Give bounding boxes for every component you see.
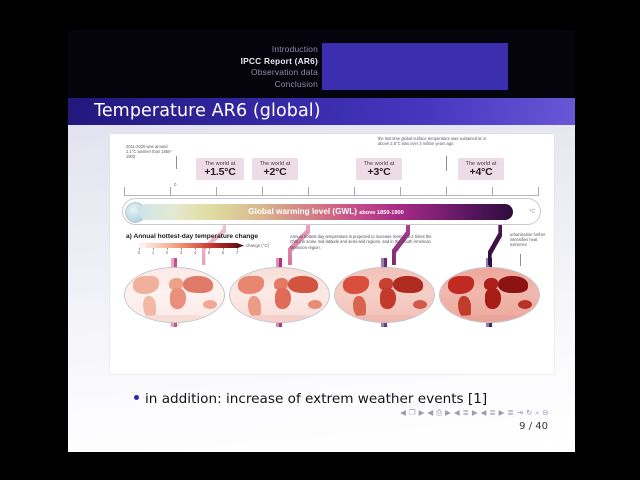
land-africa <box>275 288 291 309</box>
land-antarctica <box>242 315 320 322</box>
land-africa <box>380 288 396 309</box>
colorbar-tick-label: 3 <box>180 250 182 255</box>
gwl-axis <box>124 187 539 196</box>
panel-a-description: Annual hottest day temperature is projec… <box>290 234 440 250</box>
world-map-2c: +2°C <box>229 267 330 327</box>
colorbar-low-cap <box>139 243 146 248</box>
global-warming-level-bar: Global warming level (GWL) above 1850-19… <box>122 198 541 225</box>
gwl-axis-tick <box>538 187 539 196</box>
nav-item-observation-data[interactable]: Observation data <box>241 67 318 79</box>
land-antarctica <box>452 315 530 322</box>
letterbox-right <box>575 0 640 480</box>
colorbar-tick-label: 2 <box>166 250 168 255</box>
colorbar-tick-label: 6 <box>222 250 224 255</box>
colorbar-tick-label: 5 <box>208 250 210 255</box>
land-antarctica <box>347 315 425 322</box>
land-asia <box>288 276 318 293</box>
land-asia <box>393 276 423 293</box>
gwl-axis-tick <box>492 187 493 196</box>
slide-title-bar: Temperature AR6 (global) <box>68 98 575 125</box>
map-caption: +4°C <box>439 323 540 327</box>
globe-outline <box>124 267 225 323</box>
nav-symbols-glyphs[interactable]: ◀ ❐ ▶ ◀ ⎙ ▶ ◀ ≣ ▶ ◀ ≣ ▶ ≣ ⇥ ↻ ⌕ ⊖ <box>400 408 549 418</box>
gwl-axis-tick <box>354 187 355 196</box>
annotation-3-million-years: the last time global surface temperature… <box>378 136 498 146</box>
gwl-gradient-bar: Global warming level (GWL) above 1850-19… <box>139 204 513 220</box>
gwl-axis-tick <box>446 187 447 196</box>
beamer-section-header: Introduction IPCC Report (AR6) Observati… <box>68 30 575 98</box>
gwl-axis-line <box>124 195 539 196</box>
world-at-label-3: The world at +3°C <box>356 158 402 180</box>
land-antarctica <box>137 315 215 322</box>
colorbar-axis-label: change (°C) <box>246 243 269 248</box>
bullet-text: in addition: increase of extrem weather … <box>145 391 487 407</box>
land-australia <box>203 300 217 309</box>
annotation-2011-2020-warming: 2011-2020 was around 1.1°C warmer than 1… <box>126 144 176 159</box>
letterbox-top <box>0 0 640 30</box>
annotation-urbanisation: urbanisation further intensifies heat ex… <box>510 232 550 247</box>
land-asia <box>183 276 213 293</box>
nav-section-list[interactable]: Introduction IPCC Report (AR6) Observati… <box>241 44 318 90</box>
nav-progress-block <box>322 43 508 90</box>
map-caption: +1.5°C <box>124 323 225 327</box>
page-number: 9 / 40 <box>519 421 548 432</box>
beamer-navigation-symbols[interactable]: ◀ ❐ ▶ ◀ ⎙ ▶ ◀ ≣ ▶ ◀ ≣ ▶ ≣ ⇥ ↻ ⌕ ⊖ <box>400 408 549 418</box>
gwl-bar-label: Global warming level (GWL) above 1850-19… <box>139 207 513 216</box>
gwl-axis-tick <box>400 187 401 196</box>
world-at-label-2: The world at +2°C <box>252 158 298 180</box>
leader-line-left <box>176 156 177 169</box>
globe-outline <box>229 267 330 323</box>
leader-line-urbanisation <box>520 254 521 266</box>
video-player-stage: 2011-2020 was around 1.1°C warmer than 1… <box>0 0 640 480</box>
gwl-axis-tick <box>170 187 171 196</box>
gwl-unit-label: °C <box>529 209 535 215</box>
land-africa <box>485 288 501 309</box>
map-caption: +3°C <box>334 323 435 327</box>
map-caption: +2°C <box>229 323 330 327</box>
leader-line-right <box>446 156 447 171</box>
globe-outline <box>334 267 435 323</box>
land-africa <box>170 288 186 309</box>
land-australia <box>308 300 322 309</box>
land-australia <box>413 300 427 309</box>
gwl-axis-tick <box>124 187 125 196</box>
land-australia <box>518 300 532 309</box>
world-map-4c: +4°C <box>439 267 540 327</box>
land-asia <box>498 276 528 293</box>
gwl-axis-tick <box>262 187 263 196</box>
letterbox-bottom <box>0 452 640 480</box>
colorbar-legend: 0 1 2 3 4 5 6 7 change (°C) <box>132 243 250 256</box>
nav-item-introduction[interactable]: Introduction <box>241 44 318 56</box>
slide-bullet-item: in addition: increase of extrem weather … <box>134 391 487 407</box>
page-title: Temperature AR6 (global) <box>94 101 321 121</box>
colorbar-high-cap <box>237 243 244 248</box>
colorbar-tick-label: 0 <box>138 250 140 255</box>
nav-item-conclusion[interactable]: Conclusion <box>241 79 318 91</box>
ipcc-figure-panel: 2011-2020 was around 1.1°C warmer than 1… <box>110 134 554 374</box>
colorbar-tick-label: 1 <box>152 250 154 255</box>
colorbar-tick-label: 7 <box>236 250 238 255</box>
letterbox-left <box>0 0 68 480</box>
nav-item-ipcc-report[interactable]: IPCC Report (AR6) <box>241 56 318 68</box>
ribbon-connector-4 <box>488 225 502 265</box>
gwl-axis-tick <box>216 187 217 196</box>
gwl-axis-zero-label: 0 <box>174 182 176 187</box>
world-at-label-4: The world at +4°C <box>458 158 504 180</box>
globe-outline <box>439 267 540 323</box>
world-map-3c: +3°C <box>334 267 435 327</box>
world-map-1p5c: +1.5°C <box>124 267 225 327</box>
panel-a-title: a) Annual hottest-day temperature change <box>126 233 258 240</box>
world-at-label-1p5: The world at +1.5°C <box>196 158 244 180</box>
colorbar-tick-label: 4 <box>194 250 196 255</box>
bullet-marker-icon <box>134 395 139 400</box>
gwl-axis-tick <box>308 187 309 196</box>
